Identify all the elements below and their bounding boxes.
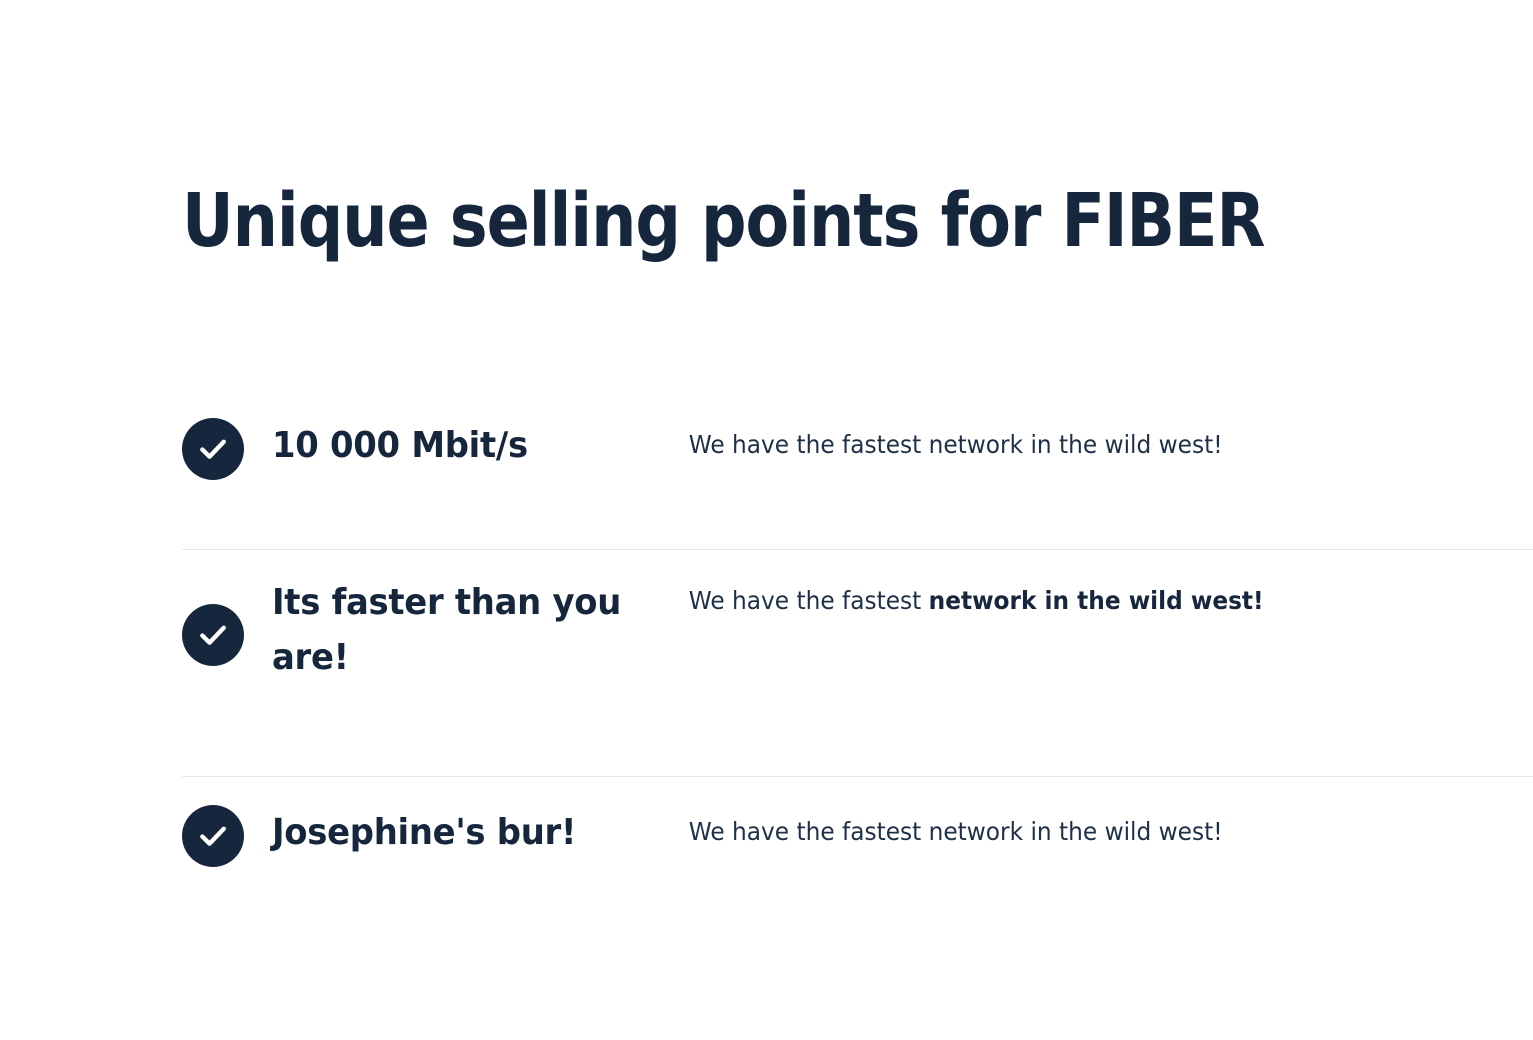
usp-title: Josephine's bur! [272, 805, 648, 860]
usp-title: 10 000 Mbit/s [272, 418, 648, 473]
usp-description: We have the fastest network in the wild … [672, 805, 1473, 850]
page-title: Unique selling points for FIBER [182, 176, 1214, 266]
usp-description-lead: We have the fastest [689, 586, 929, 615]
usp-description-lead: We have the fastest network in the wild … [689, 817, 1223, 846]
check-circle-icon [182, 604, 244, 666]
usp-description-lead: We have the fastest network in the wild … [689, 430, 1223, 459]
list-item: 10 000 Mbit/s We have the fastest networ… [0, 392, 1533, 549]
check-circle-icon [182, 418, 244, 480]
list-item: Its faster than you are! We have the fas… [0, 550, 1533, 776]
usp-list: 10 000 Mbit/s We have the fastest networ… [0, 392, 1533, 927]
usp-description: We have the fastest network in the wild … [672, 575, 1473, 619]
usp-description-strong: network in the wild west! [929, 586, 1264, 615]
check-circle-icon [182, 805, 244, 867]
usp-title: Its faster than you are! [272, 575, 648, 685]
usp-page: Unique selling points for FIBER 10 000 M… [0, 0, 1533, 1040]
usp-description: We have the fastest network in the wild … [672, 418, 1473, 463]
list-item: Josephine's bur! We have the fastest net… [0, 777, 1533, 927]
